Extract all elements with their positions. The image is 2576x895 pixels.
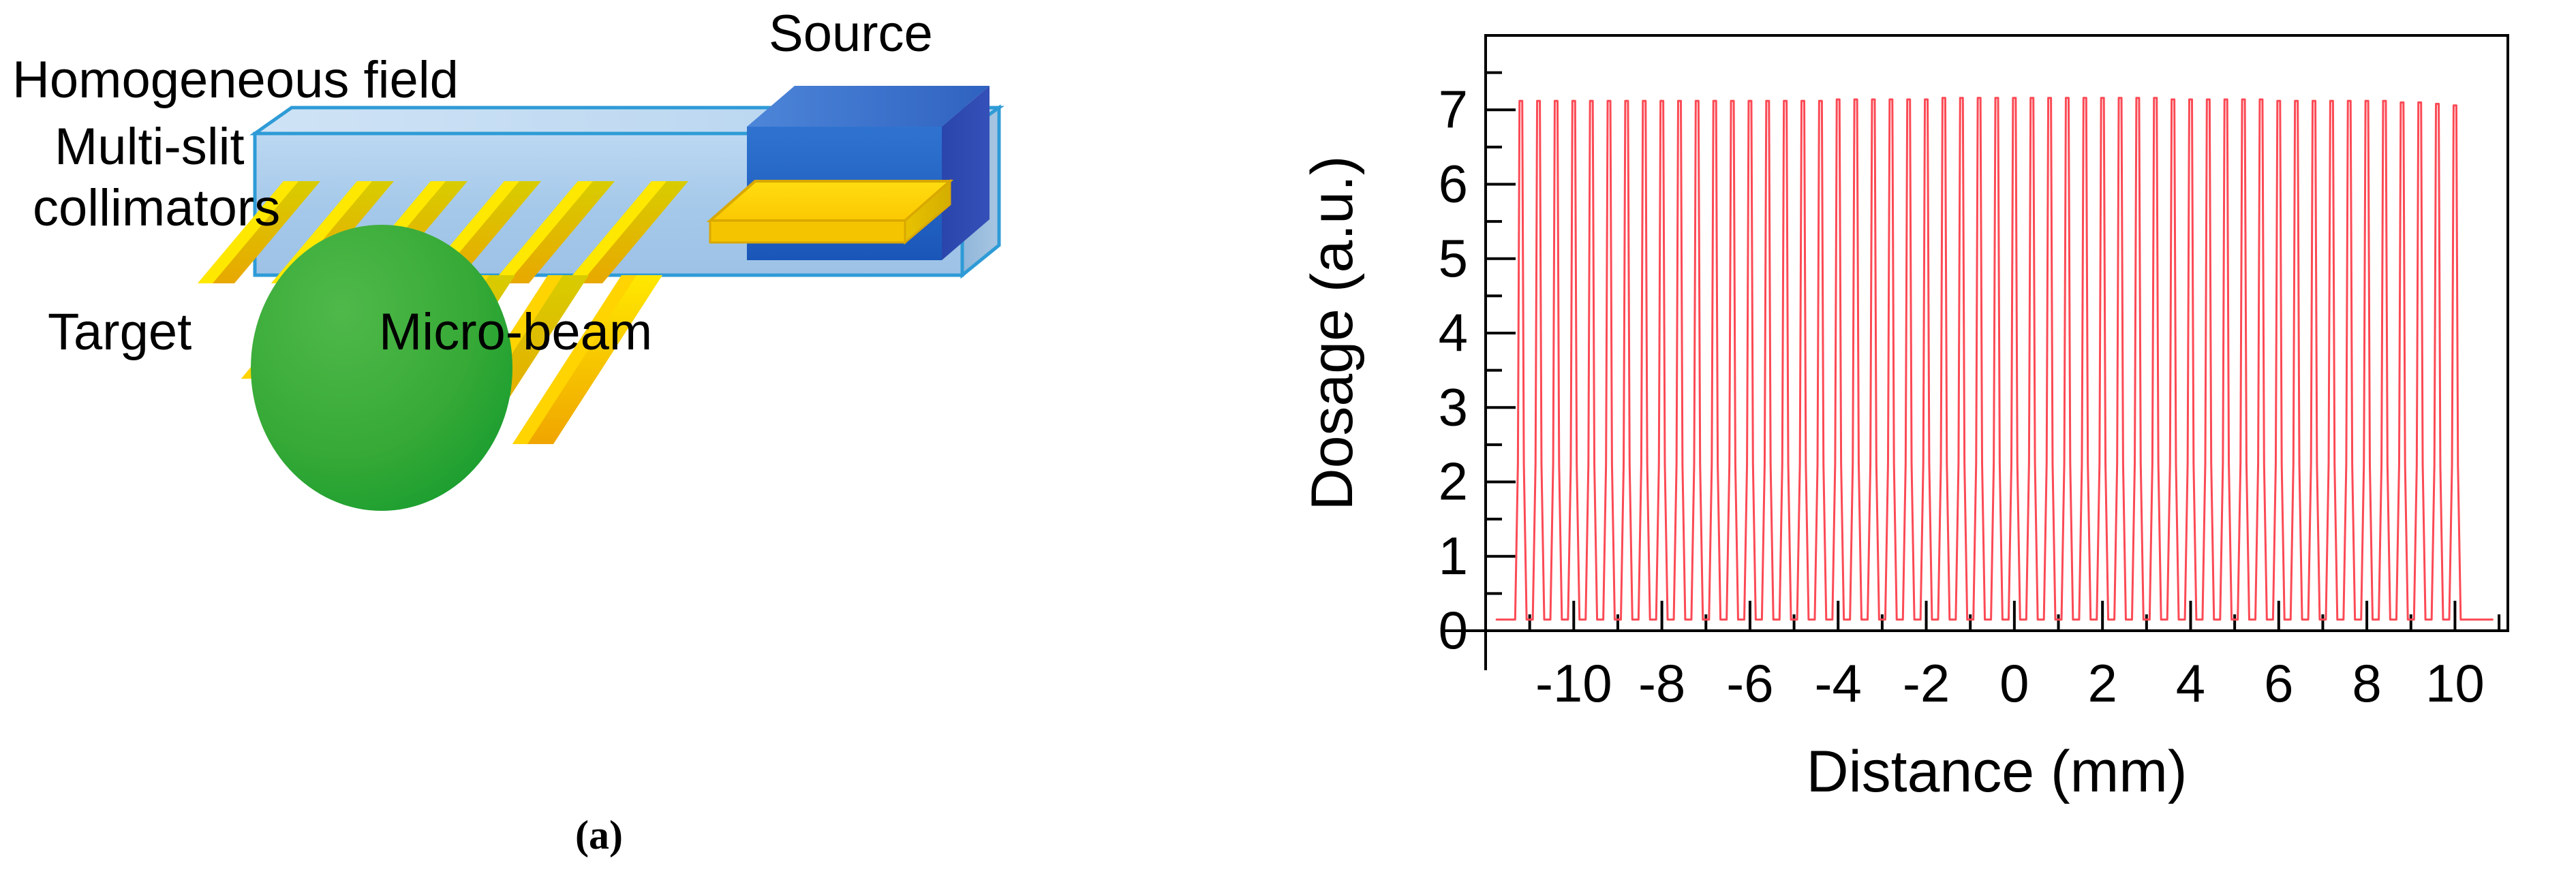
y-axis-label: Dosage (a.u.): [1300, 155, 1365, 510]
x-tick-label: -6: [1726, 653, 1773, 713]
field-slab-front: [710, 221, 905, 242]
x-tick-label: -8: [1638, 653, 1685, 713]
y-tick-label: 5: [1439, 228, 1468, 288]
panel-b-chart: 12345670-10-8-6-4-20246810 Distance (mm)…: [1288, 0, 2576, 895]
panel-a-schematic: Source Homogeneous field Multi-slit coll…: [0, 0, 1288, 895]
x-tick-label: 4: [2176, 653, 2205, 713]
homogeneous-field-slab: [710, 181, 950, 242]
label-collimators: collimators: [33, 183, 280, 234]
x-tick-label: 0: [1999, 653, 2029, 713]
x-tick-label: 8: [2352, 653, 2381, 713]
y-tick-label: 3: [1439, 377, 1468, 437]
label-source: Source: [769, 8, 933, 60]
figure-root: Source Homogeneous field Multi-slit coll…: [0, 0, 2576, 895]
dosage-profile-chart: 12345670-10-8-6-4-20246810 Distance (mm)…: [1288, 0, 2576, 895]
y-tick-label: 7: [1439, 79, 1468, 139]
x-tick-label: 6: [2264, 653, 2293, 713]
y-tick-label: 0: [1439, 600, 1468, 660]
target-ellipse: [251, 225, 512, 511]
y-tick-label: 2: [1439, 452, 1468, 512]
label-target: Target: [48, 307, 191, 358]
dosage-line: [1497, 98, 2492, 620]
label-micro-beam: Micro-beam: [379, 307, 652, 358]
plot-tick-labels: 12345670-10-8-6-4-20246810: [1439, 79, 2485, 713]
subcaption-a: (a): [575, 812, 623, 859]
x-tick-label: -10: [1535, 653, 1612, 713]
x-tick-label: -2: [1903, 653, 1950, 713]
label-homogeneous-field: Homogeneous field: [12, 54, 459, 106]
dosage-curve: [1497, 98, 2492, 620]
x-tick-label: 2: [2087, 653, 2117, 713]
label-multi-slit: Multi-slit: [55, 121, 245, 173]
y-tick-label: 6: [1439, 154, 1468, 214]
y-tick-label: 1: [1439, 526, 1468, 586]
y-tick-label: 4: [1439, 302, 1468, 362]
x-tick-label: -4: [1815, 653, 1862, 713]
x-axis-label: Distance (mm): [1806, 739, 2187, 804]
x-tick-label: 10: [2425, 653, 2485, 713]
